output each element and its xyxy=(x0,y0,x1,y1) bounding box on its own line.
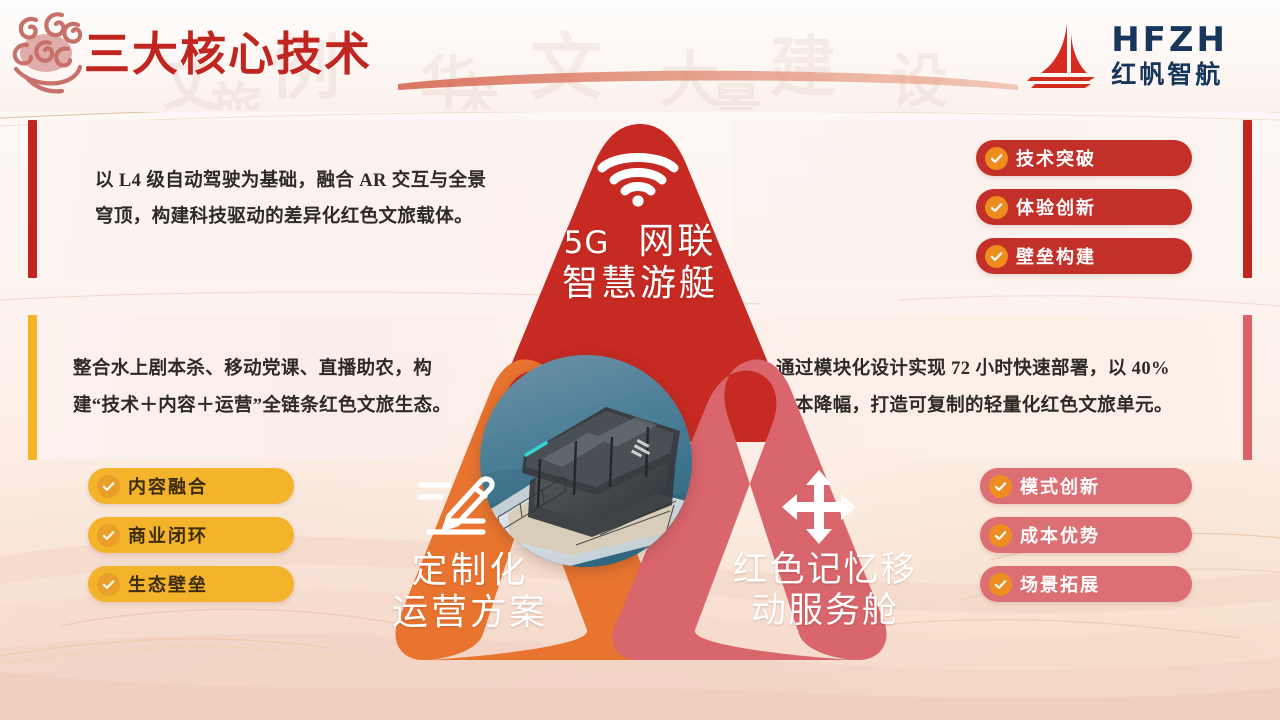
badge-item[interactable]: 商业闭环 xyxy=(88,517,294,553)
petal-top-label: 5G 网联 智慧游艇 xyxy=(505,222,775,306)
check-circle-icon xyxy=(989,573,1012,596)
check-circle-icon xyxy=(97,524,120,547)
badge-item[interactable]: 技术突破 xyxy=(976,140,1192,176)
page-title: 三大核心技术 xyxy=(84,18,372,84)
check-circle-icon xyxy=(989,524,1012,547)
petal-top-prefix: 5G xyxy=(564,225,610,261)
check-circle-icon xyxy=(97,475,120,498)
badge-label: 成本优势 xyxy=(1020,522,1100,548)
panel-accent-bar xyxy=(1243,315,1252,460)
badge-label: 内容融合 xyxy=(128,473,208,499)
check-circle-icon xyxy=(985,147,1008,170)
check-circle-icon xyxy=(989,475,1012,498)
slide-root: 丈 例 华 文 大 建 设 旅 术 景 xyxy=(0,0,1280,720)
badge-label: 模式创新 xyxy=(1020,473,1100,499)
badge-item[interactable]: 内容融合 xyxy=(88,468,294,504)
check-circle-icon xyxy=(985,196,1008,219)
badge-label: 生态壁垒 xyxy=(128,571,208,597)
pencil-edit-icon xyxy=(415,476,501,542)
badge-group-bottom-left: 内容融合 商业闭环 生态壁垒 xyxy=(88,468,294,602)
title-underline-swoosh xyxy=(398,68,1018,94)
petal-br-line2: 动服务舱 xyxy=(700,591,950,632)
badge-item[interactable]: 模式创新 xyxy=(980,468,1192,504)
petal-bottom-right-label: 红色记忆移 动服务舱 xyxy=(700,550,950,631)
badge-item[interactable]: 体验创新 xyxy=(976,189,1192,225)
badge-item[interactable]: 生态壁垒 xyxy=(88,566,294,602)
badge-group-bottom-right: 模式创新 成本优势 场景拓展 xyxy=(980,468,1192,602)
petal-bottom-left-label: 定制化 运营方案 xyxy=(355,550,585,634)
petal-br-line1: 红色记忆移 xyxy=(700,550,950,591)
move-arrows-icon xyxy=(780,468,858,546)
logo-text-en: HFZH xyxy=(1111,23,1228,57)
panel-accent-bar xyxy=(1243,120,1252,278)
petal-bl-line1: 定制化 xyxy=(355,550,585,592)
badge-label: 商业闭环 xyxy=(128,522,208,548)
check-circle-icon xyxy=(985,245,1008,268)
petal-top-line2: 智慧游艇 xyxy=(505,262,775,305)
petal-bl-line2: 运营方案 xyxy=(355,592,585,634)
petal-top-line1: 网联 xyxy=(638,221,716,262)
wifi-icon xyxy=(594,146,682,208)
panel-accent-bar xyxy=(28,315,37,460)
slide-header: 丈 例 华 文 大 建 设 旅 术 景 xyxy=(0,0,1280,112)
check-circle-icon xyxy=(97,573,120,596)
red-sailboat-icon xyxy=(1025,19,1099,91)
badge-label: 场景拓展 xyxy=(1020,571,1100,597)
panel-accent-bar xyxy=(28,120,37,278)
badge-item[interactable]: 成本优势 xyxy=(980,517,1192,553)
badge-item[interactable]: 场景拓展 xyxy=(980,566,1192,602)
badge-label: 体验创新 xyxy=(1016,194,1096,220)
badge-group-top-right: 技术突破 体验创新 壁垒构建 xyxy=(976,140,1192,274)
logo-text-cn: 红帆智航 xyxy=(1111,62,1228,87)
brand-logo: HFZH 红帆智航 xyxy=(1025,16,1228,94)
badge-label: 壁垒构建 xyxy=(1016,243,1096,269)
badge-label: 技术突破 xyxy=(1016,145,1096,171)
badge-item[interactable]: 壁垒构建 xyxy=(976,238,1192,274)
smart-yacht-photo xyxy=(480,355,692,567)
